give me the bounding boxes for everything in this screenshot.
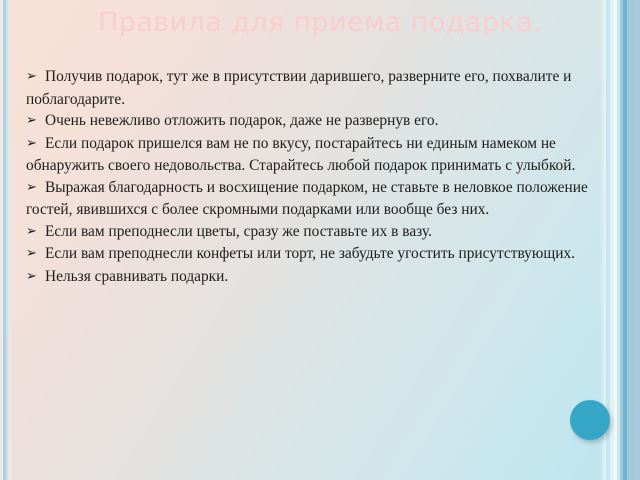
rule-item-text: Если вам преподнесли конфеты или торт, н…: [45, 245, 575, 262]
rule-item-text: Получив подарок, тут же в присутствии да…: [26, 68, 571, 108]
slide-canvas: Правила для приема подарка. ➢Получив под…: [0, 0, 640, 480]
rule-item: ➢Если вам преподнесли цветы, сразу же по…: [26, 221, 596, 244]
arrow-bullet-icon: ➢: [26, 243, 45, 265]
arrow-bullet-icon: ➢: [26, 133, 45, 155]
rule-item-text: Очень невежливо отложить подарок, даже н…: [45, 112, 438, 129]
rule-item-text: Если вам преподнесли цветы, сразу же пос…: [45, 223, 432, 240]
arrow-bullet-icon: ➢: [26, 266, 45, 288]
rule-item: ➢Нельзя сравнивать подарки.: [26, 266, 596, 289]
rule-item: ➢Если вам преподнесли конфеты или торт, …: [26, 243, 596, 266]
right-edge-stripe-band: [606, 0, 640, 480]
rule-item: ➢Выражая благодарность и восхищение пода…: [26, 177, 596, 221]
left-edge-decoration: [0, 0, 12, 480]
rule-item: ➢Если подарок пришелся вам не по вкусу, …: [26, 133, 596, 177]
arrow-bullet-icon: ➢: [26, 221, 45, 243]
decorative-circle: [570, 400, 610, 440]
rule-item: ➢Очень невежливо отложить подарок, даже …: [26, 110, 596, 133]
rule-item: ➢Получив подарок, тут же в присутствии д…: [26, 66, 596, 110]
arrow-bullet-icon: ➢: [26, 177, 45, 199]
rule-item-text: Нельзя сравнивать подарки.: [45, 268, 228, 285]
rule-item-text: Выражая благодарность и восхищение подар…: [26, 179, 588, 219]
arrow-bullet-icon: ➢: [26, 110, 45, 132]
arrow-bullet-icon: ➢: [26, 66, 45, 88]
rules-list: ➢Получив подарок, тут же в присутствии д…: [26, 66, 596, 288]
rule-item-text: Если подарок пришелся вам не по вкусу, п…: [26, 135, 575, 175]
slide-title: Правила для приема подарка.: [0, 6, 640, 40]
